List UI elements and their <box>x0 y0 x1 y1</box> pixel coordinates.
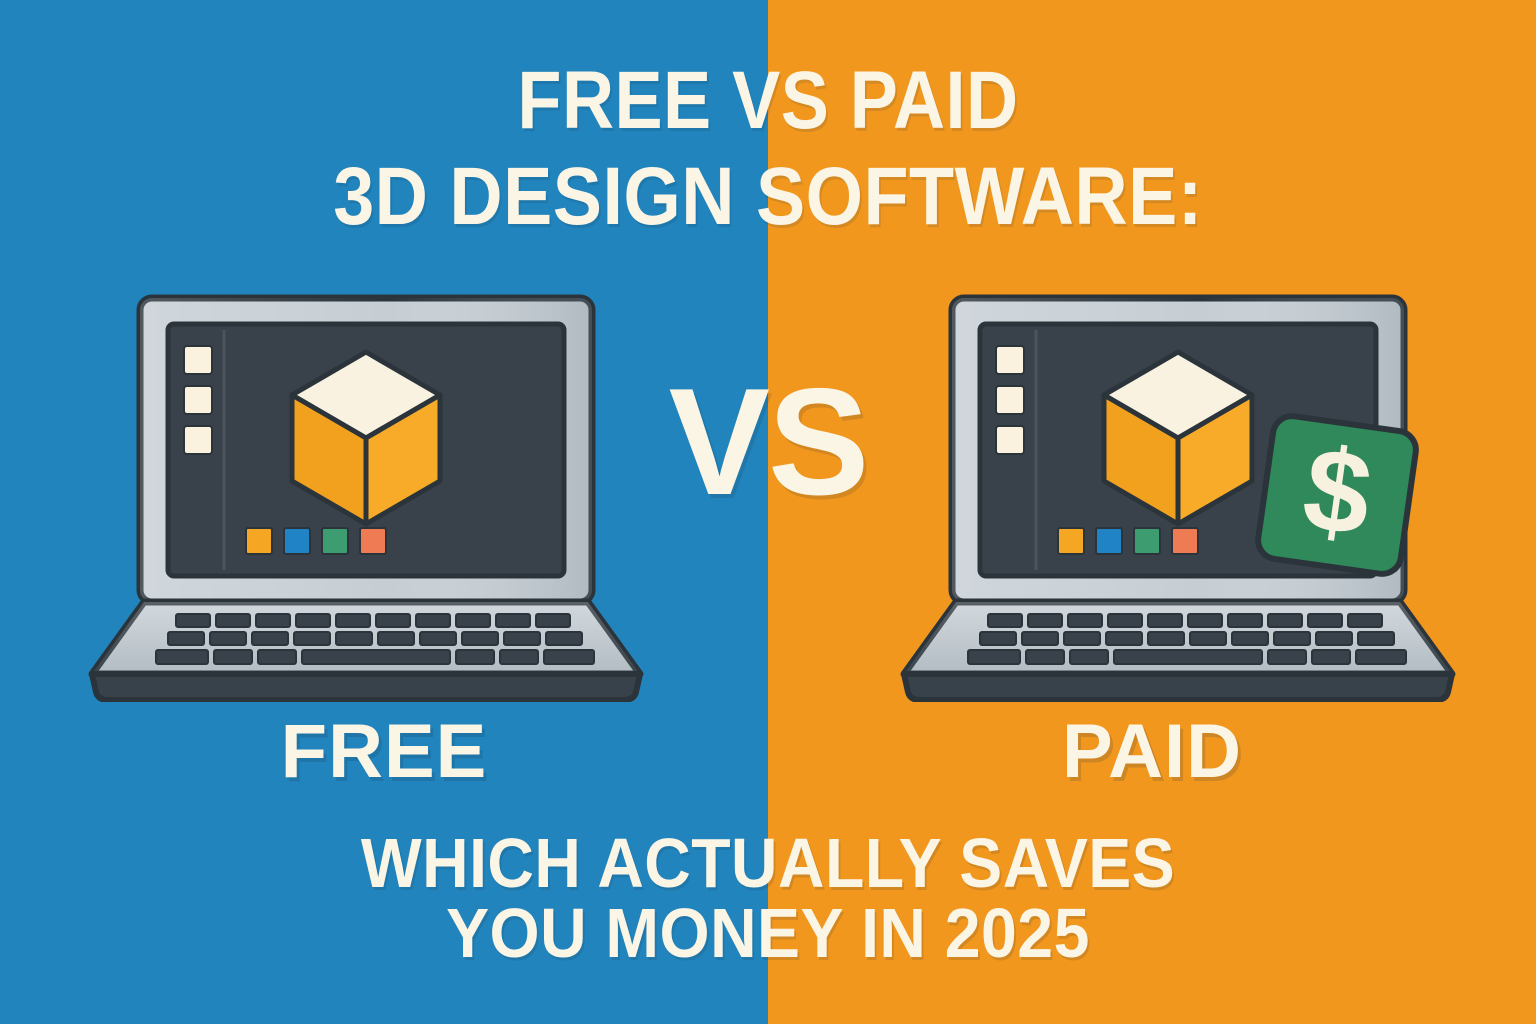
column-label-free: FREE <box>0 714 768 790</box>
screen-tool-button-3-paid[interactable] <box>996 426 1024 454</box>
screen-swatch-red-free[interactable] <box>360 528 386 554</box>
subtitle-line-2: YOU MONEY IN 2025 <box>61 898 1474 968</box>
laptop-base-front-paid <box>904 674 1452 700</box>
laptop-base-front-free <box>92 674 640 700</box>
screen-tool-button-1-free[interactable] <box>184 346 212 374</box>
versus-label: VS <box>648 366 888 518</box>
screen-tool-button-3-free[interactable] <box>184 426 212 454</box>
screen-swatch-orange-free[interactable] <box>246 528 272 554</box>
column-label-paid: PAID <box>768 714 1536 790</box>
screen-tool-button-2-free[interactable] <box>184 386 212 414</box>
screen-swatch-red-paid[interactable] <box>1172 528 1198 554</box>
screen-swatch-green-paid[interactable] <box>1134 528 1160 554</box>
laptop-svg-free <box>88 292 658 702</box>
screen-swatch-blue-free[interactable] <box>284 528 310 554</box>
screen-tool-button-2-paid[interactable] <box>996 386 1024 414</box>
screen-swatch-orange-paid[interactable] <box>1058 528 1084 554</box>
screen-tool-button-1-paid[interactable] <box>996 346 1024 374</box>
subtitle-line-1: WHICH ACTUALLY SAVES <box>61 828 1474 898</box>
laptop-illustration-free <box>88 292 658 702</box>
poster-canvas: FREE VS PAID 3D DESIGN SOFTWARE: <box>0 0 1536 1024</box>
dollar-sign-icon: $ <box>1252 410 1421 579</box>
page-title-line-2: 3D DESIGN SOFTWARE: <box>77 158 1459 236</box>
dollar-badge-glyph: $ <box>1252 410 1421 579</box>
page-title-line-1: FREE VS PAID <box>92 62 1444 140</box>
screen-swatch-blue-paid[interactable] <box>1096 528 1122 554</box>
screen-swatch-green-free[interactable] <box>322 528 348 554</box>
